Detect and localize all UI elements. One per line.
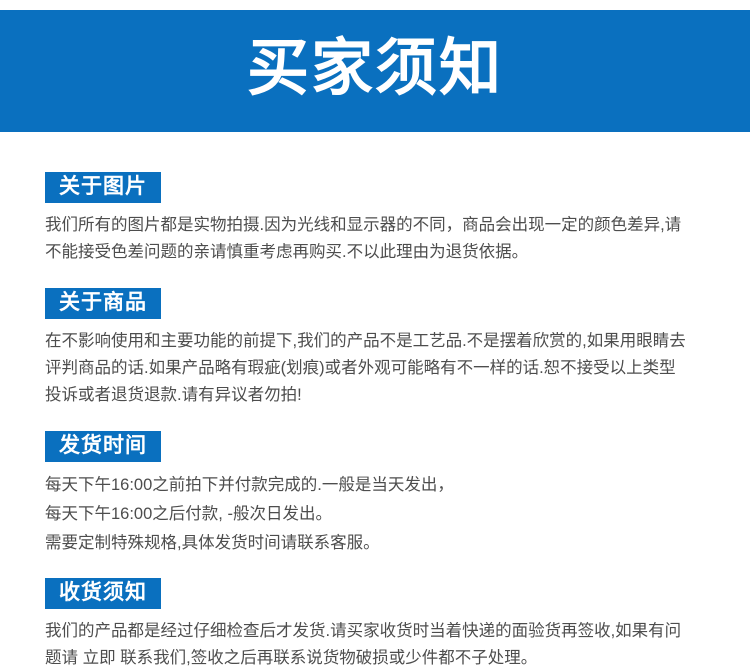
section-badge-receiving-notice: 收货须知 <box>45 578 161 609</box>
section-shipping-time: 发货时间 每天下午16:00之前拍下并付款完成的.一般是当天发出， 每天下午16… <box>0 409 750 558</box>
text-line: 每天下午16:00之后付款, -般次日发出。 <box>45 500 712 529</box>
section-about-images: 关于图片 我们所有的图片都是实物拍摄.因为光线和显示器的不同，商品会出现一定的颜… <box>0 132 750 266</box>
page-title: 买家须知 <box>247 38 503 104</box>
text-line: 投诉或者退货退款.请有异议者勿拍! <box>45 382 712 409</box>
section-receiving-notice: 收货须知 我们的产品都是经过仔细检查后才发货.请买家收货时当着快递的面验货再签收… <box>0 558 750 672</box>
buyer-notice-page: 买家须知 关于图片 我们所有的图片都是实物拍摄.因为光线和显示器的不同，商品会出… <box>0 0 750 663</box>
section-badge-shipping-time: 发货时间 <box>45 431 161 462</box>
text-line: 需要定制特殊规格,具体发货时间请联系客服。 <box>45 529 712 558</box>
text-line: 评判商品的话.如果产品略有瑕疵(划痕)或者外观可能略有不一样的话.恕不接受以上类… <box>45 355 712 382</box>
text-line: 每天下午16:00之前拍下并付款完成的.一般是当天发出， <box>45 471 712 500</box>
notice-sections: 关于图片 我们所有的图片都是实物拍摄.因为光线和显示器的不同，商品会出现一定的颜… <box>0 132 750 672</box>
header-banner: 买家须知 <box>0 10 750 132</box>
section-body-about-product: 在不影响使用和主要功能的前提下,我们的产品不是工艺品.不是摆着欣赏的,如果用眼睛… <box>45 328 712 409</box>
section-about-product: 关于商品 在不影响使用和主要功能的前提下,我们的产品不是工艺品.不是摆着欣赏的,… <box>0 266 750 409</box>
text-line: 在不影响使用和主要功能的前提下,我们的产品不是工艺品.不是摆着欣赏的,如果用眼睛… <box>45 328 712 355</box>
section-body-about-images: 我们所有的图片都是实物拍摄.因为光线和显示器的不同，商品会出现一定的颜色差异,请… <box>45 212 712 266</box>
section-body-receiving-notice: 我们的产品都是经过仔细检查后才发货.请买家收货时当着快递的面验货再签收,如果有问… <box>45 618 712 672</box>
section-badge-about-product: 关于商品 <box>45 288 161 319</box>
text-line: 不能接受色差问题的亲请慎重考虑再购买.不以此理由为退货依据。 <box>45 239 712 266</box>
text-line: 我们的产品都是经过仔细检查后才发货.请买家收货时当着快递的面验货再签收,如果有问 <box>45 618 712 645</box>
text-line: 题请 立即 联系我们,签收之后再联系说货物破损或少件都不子处理。 <box>45 645 712 672</box>
section-badge-about-images: 关于图片 <box>45 172 161 203</box>
text-line: 我们所有的图片都是实物拍摄.因为光线和显示器的不同，商品会出现一定的颜色差异,请 <box>45 212 712 239</box>
section-body-shipping-time: 每天下午16:00之前拍下并付款完成的.一般是当天发出， 每天下午16:00之后… <box>45 471 712 558</box>
